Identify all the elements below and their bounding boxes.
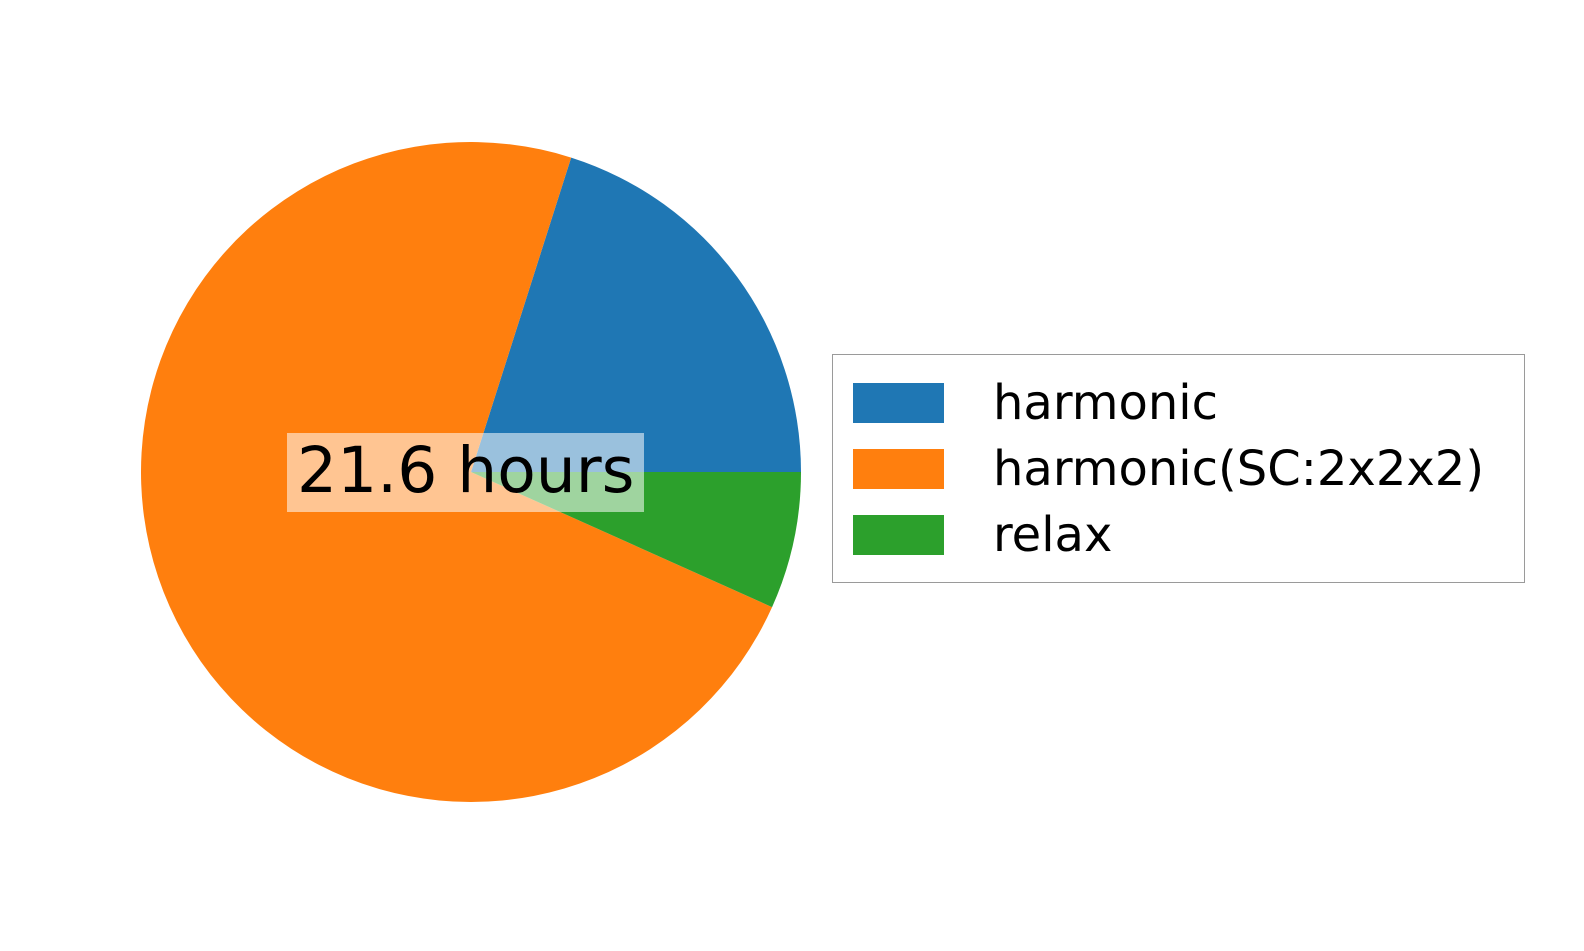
legend-label-relax: relax [993, 511, 1112, 559]
pie-center-label: 21.6 hours [287, 433, 644, 512]
legend-label-harmonic: harmonic [993, 379, 1218, 427]
legend-swatch-harmonic [853, 383, 944, 423]
legend-item-harmonic-sc[interactable]: harmonic(SC:2x2x2) [853, 436, 1524, 502]
legend-swatch-harmonic-sc [853, 449, 944, 489]
figure-canvas: 21.6 hours harmonic harmonic(SC:2x2x2) r… [0, 0, 1584, 951]
legend-item-harmonic[interactable]: harmonic [853, 370, 1524, 436]
legend-box: harmonic harmonic(SC:2x2x2) relax [832, 354, 1525, 583]
legend-swatch-relax [853, 515, 944, 555]
legend-item-relax[interactable]: relax [853, 502, 1524, 568]
legend-label-harmonic-sc: harmonic(SC:2x2x2) [993, 445, 1484, 493]
